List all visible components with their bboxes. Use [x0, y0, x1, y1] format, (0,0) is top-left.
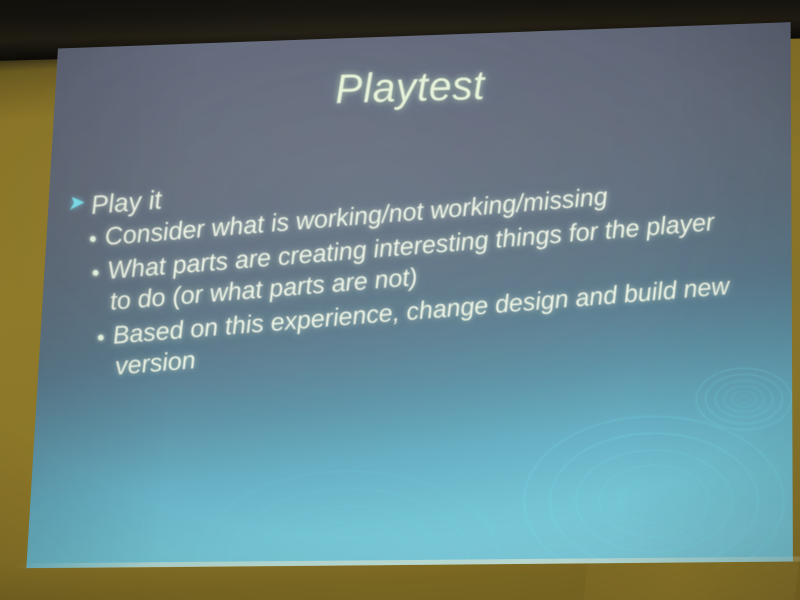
- photo-of-projection-screen: Playtest ➤ Play it Consider what is work…: [0, 0, 800, 600]
- dot-bullet-icon: [98, 334, 104, 340]
- dot-bullet-icon: [90, 236, 96, 242]
- projection-screen: Playtest ➤ Play it Consider what is work…: [24, 16, 796, 576]
- water-ripple-small-icon: [696, 368, 792, 430]
- arrow-bullet-icon: ➤: [66, 191, 85, 217]
- bullet-text: Play it: [90, 184, 163, 221]
- slide-body: ➤ Play it Consider what is working/not w…: [66, 137, 770, 389]
- slide-title: Playtest: [23, 53, 796, 122]
- slide-canvas: Playtest ➤ Play it Consider what is work…: [24, 16, 796, 576]
- dot-bullet-icon: [92, 270, 98, 276]
